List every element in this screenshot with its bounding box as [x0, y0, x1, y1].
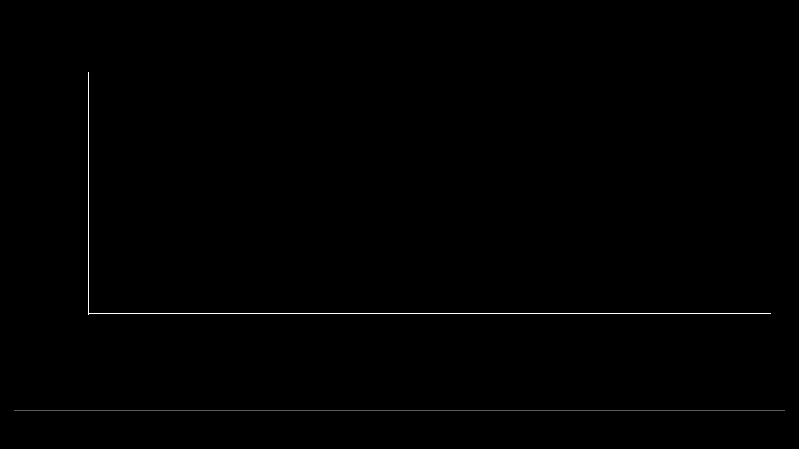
- legend-swatch-put: [110, 82, 158, 98]
- y-axis-line: [88, 72, 89, 315]
- chart-legend: [110, 79, 173, 133]
- legend-swatch-call: [110, 109, 158, 125]
- footer-divider: [14, 410, 785, 411]
- legend-item-put: [110, 79, 173, 101]
- chart-root: [0, 0, 799, 449]
- x-axis-line: [88, 313, 771, 314]
- plot-wrapper: [0, 0, 799, 449]
- legend-item-call: [110, 106, 173, 128]
- plot-area: [89, 74, 770, 313]
- stacked-area-series: [89, 74, 770, 313]
